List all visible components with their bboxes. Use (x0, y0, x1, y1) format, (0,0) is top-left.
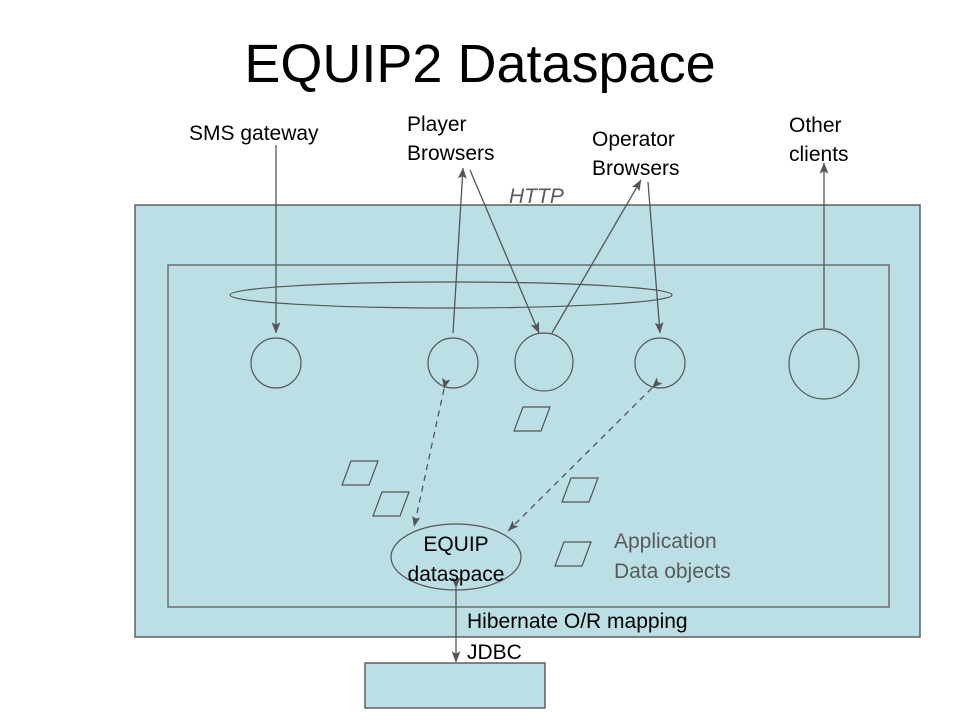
page-title: EQUIP2 Dataspace (244, 34, 715, 94)
label-sms-gateway: SMS gateway (189, 122, 319, 145)
label-application-data-objects-line2: Data objects (614, 560, 731, 583)
label-other-clients-line2: clients (789, 143, 849, 166)
equip2-dataspace-diagram: EQUIP2 Dataspace (0, 0, 960, 720)
label-other-clients-line1: Other (789, 114, 842, 137)
label-jdbc: JDBC (467, 641, 522, 664)
diagram-canvas: EQUIP2 Dataspace (0, 0, 960, 720)
label-equip-dataspace-line2: dataspace (408, 563, 505, 586)
label-player-browsers-line1: Player (407, 113, 467, 136)
label-application-data-objects-line1: Application (614, 530, 717, 553)
label-player-browsers-line2: Browsers (407, 142, 495, 165)
label-http: HTTP (509, 185, 564, 208)
label-operator-browsers-line2: Browsers (592, 157, 680, 180)
label-hibernate-mapping: Hibernate O/R mapping (467, 610, 688, 633)
label-operator-browsers-line1: Operator (592, 128, 675, 151)
database-box (365, 663, 545, 708)
label-equip-dataspace-line1: EQUIP (423, 533, 488, 556)
outer-panel (135, 205, 920, 637)
